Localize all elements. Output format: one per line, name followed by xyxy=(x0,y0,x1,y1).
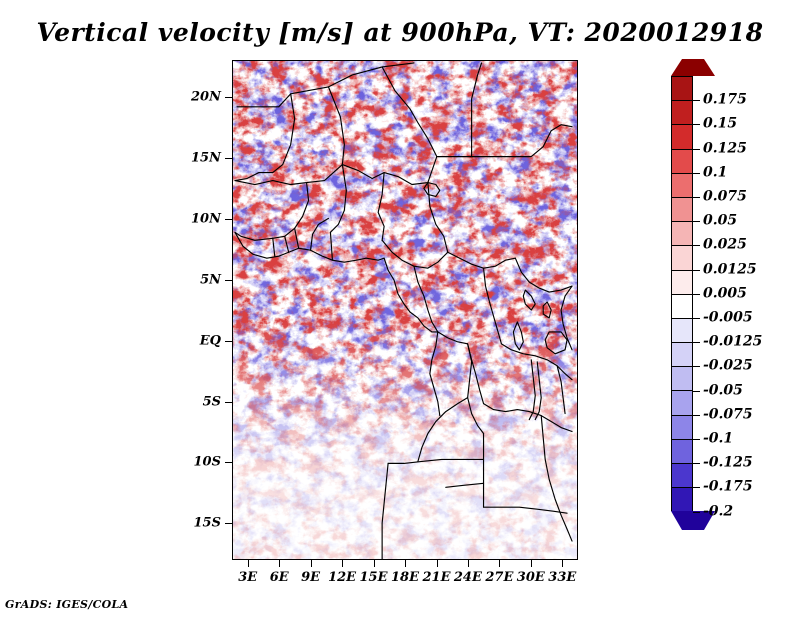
colorbar-swatch xyxy=(671,245,693,269)
colorbar-swatch xyxy=(671,487,693,511)
colorbar-tick xyxy=(693,294,700,295)
colorbar-swatch xyxy=(671,173,693,197)
colorbar-tick xyxy=(693,173,700,174)
colorbar-tick-label: -0.05 xyxy=(703,382,743,398)
colorbar-tick-label: 0.025 xyxy=(703,237,747,253)
x-tick-label: 12E xyxy=(328,570,356,585)
colorbar-swatch xyxy=(671,318,693,342)
y-tick-label: 15N xyxy=(191,150,221,165)
x-tick xyxy=(311,560,312,567)
figure-root: Vertical velocity [m/s] at 900hPa, VT: 2… xyxy=(0,0,800,618)
x-tick-label: 18E xyxy=(391,570,419,585)
colorbar-tick xyxy=(693,197,700,198)
x-tick xyxy=(468,560,469,567)
x-tick-label: 3E xyxy=(238,570,257,585)
x-tick xyxy=(499,560,500,567)
colorbar-swatch xyxy=(671,76,693,100)
x-tick-label: 24E xyxy=(454,570,482,585)
colorbar-tick-label: 0.15 xyxy=(703,116,737,132)
colorbar-tick-label: 0.175 xyxy=(703,92,747,108)
colorbar-tick-label: 0.1 xyxy=(703,164,727,180)
colorbar-tick xyxy=(693,439,700,440)
x-tick xyxy=(405,560,406,567)
y-tick-label: EQ xyxy=(200,333,221,348)
colorbar-tick xyxy=(693,221,700,222)
colorbar-swatch xyxy=(671,149,693,173)
x-tick xyxy=(531,560,532,567)
y-tick-label: 5N xyxy=(200,272,221,287)
colorbar-swatch xyxy=(671,197,693,221)
colorbar-swatch xyxy=(671,415,693,439)
x-tick-label: 21E xyxy=(423,570,451,585)
colorbar-tick xyxy=(693,318,700,319)
colorbar-tick xyxy=(693,342,700,343)
x-tick-label: 6E xyxy=(270,570,289,585)
colorbar-tick-label: 0.0125 xyxy=(703,261,757,277)
x-tick xyxy=(248,560,249,567)
colorbar-tick-label: 0.125 xyxy=(703,140,747,156)
y-tick xyxy=(225,341,232,342)
colorbar-swatch xyxy=(671,390,693,414)
colorbar-tick xyxy=(693,100,700,101)
colorbar-tick xyxy=(693,463,700,464)
colorbar-swatch xyxy=(671,124,693,148)
colorbar-tick-label: -0.2 xyxy=(703,503,733,519)
colorbar-tick-label: -0.005 xyxy=(703,310,753,326)
x-tick-label: 27E xyxy=(485,570,513,585)
x-tick xyxy=(437,560,438,567)
x-tick xyxy=(279,560,280,567)
y-tick xyxy=(225,280,232,281)
x-tick xyxy=(374,560,375,567)
x-tick xyxy=(562,560,563,567)
colorbar-swatch xyxy=(671,100,693,124)
colorbar-tick-label: -0.075 xyxy=(703,406,753,422)
colorbar-tick-label: -0.125 xyxy=(703,455,753,471)
y-tick xyxy=(225,402,232,403)
colorbar-arrow-up-icon xyxy=(671,59,715,76)
colorbar-swatch xyxy=(671,366,693,390)
colorbar-tick xyxy=(693,487,700,488)
y-tick xyxy=(225,219,232,220)
colorbar-tick-label: -0.1 xyxy=(703,431,733,447)
y-tick xyxy=(225,158,232,159)
footer-credit: GrADS: IGES/COLA xyxy=(5,598,128,611)
axes-container: 20N 15N 10N 5N EQ 5S 10S 15S 3E 6E 9E 12… xyxy=(232,60,578,560)
colorbar-tick-label: -0.0125 xyxy=(703,334,762,350)
y-tick-label: 10S xyxy=(194,455,221,470)
colorbar-tick xyxy=(693,366,700,367)
x-tick-label: 9E xyxy=(301,570,320,585)
y-tick-label: 15S xyxy=(194,516,221,531)
colorbar-tick-label: 0.005 xyxy=(703,285,747,301)
y-tick xyxy=(225,462,232,463)
y-tick-label: 20N xyxy=(191,89,221,104)
colorbar-swatch xyxy=(671,221,693,245)
page-title: Vertical velocity [m/s] at 900hPa, VT: 2… xyxy=(0,18,800,47)
colorbar-tick-label: 0.075 xyxy=(703,189,747,205)
x-tick-label: 33E xyxy=(548,570,576,585)
colorbar-tick-label: 0.05 xyxy=(703,213,737,229)
colorbar-tick xyxy=(693,415,700,416)
colorbar-swatch xyxy=(671,342,693,366)
x-tick-label: 30E xyxy=(517,570,545,585)
colorbar-tick xyxy=(693,124,700,125)
colorbar-tick xyxy=(693,245,700,246)
colorbar-tick-label: -0.175 xyxy=(703,479,753,495)
colorbar-swatch xyxy=(671,270,693,294)
colorbar-tick xyxy=(693,270,700,271)
x-tick-label: 15E xyxy=(360,570,388,585)
x-tick xyxy=(342,560,343,567)
colorbar-tick xyxy=(693,512,700,513)
y-tick xyxy=(225,97,232,98)
colorbar-tick xyxy=(693,391,700,392)
colorbar-tick xyxy=(693,149,700,150)
colorbar-swatch xyxy=(671,439,693,463)
y-tick-label: 10N xyxy=(191,211,221,226)
colorbar-tick-label: -0.025 xyxy=(703,358,753,374)
colorbar-swatch xyxy=(671,294,693,318)
y-tick xyxy=(225,523,232,524)
colorbar: 0.175 0.15 0.125 0.1 0.075 0.05 0.025 0.… xyxy=(671,76,693,511)
colorbar-swatch xyxy=(671,463,693,487)
y-tick-label: 5S xyxy=(203,394,221,409)
